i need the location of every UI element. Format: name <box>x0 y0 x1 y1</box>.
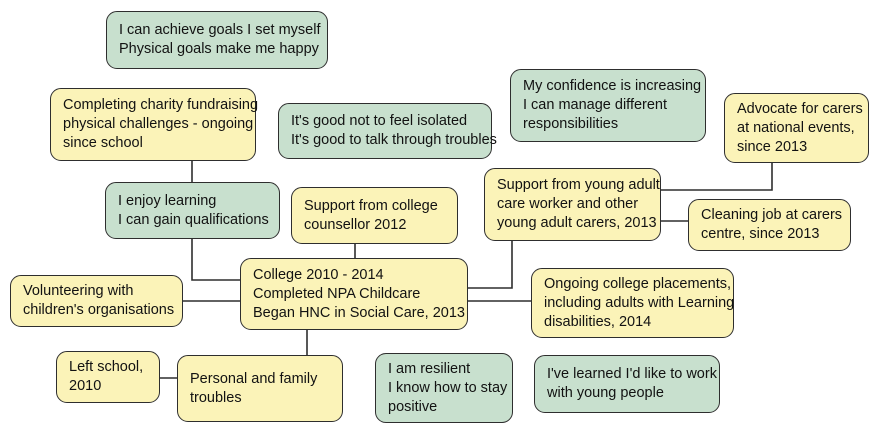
node-advocate-carers[interactable]: Advocate for carersat national events,si… <box>724 93 869 163</box>
node-text-line: I am resilient <box>388 360 500 379</box>
node-text-line: troubles <box>190 389 330 408</box>
node-text-line: care worker and other <box>497 195 648 214</box>
node-text-line: Ongoing college placements, <box>544 275 721 294</box>
node-college-main[interactable]: College 2010 - 2014Completed NPA Childca… <box>240 258 468 330</box>
node-text-line: Physical goals make me happy <box>119 40 315 59</box>
node-text-line: It's good to talk through troubles <box>291 131 479 150</box>
connector-enjoy-to-college <box>192 239 240 280</box>
node-enjoy-learning[interactable]: I enjoy learningI can gain qualification… <box>105 182 280 239</box>
node-text-line: children's organisations <box>23 301 170 320</box>
node-text-line: Cleaning job at carers <box>701 206 838 225</box>
node-text-line: I've learned I'd like to work <box>547 365 707 384</box>
node-confidence-increasing[interactable]: My confidence is increasingI can manage … <box>510 69 706 142</box>
node-text-line: Volunteering with <box>23 282 170 301</box>
node-text-line: since 2013 <box>737 138 856 157</box>
node-text-line: at national events, <box>737 119 856 138</box>
node-charity-fundraising[interactable]: Completing charity fundraisingphysical c… <box>50 88 256 161</box>
node-text-line: centre, since 2013 <box>701 225 838 244</box>
connector-youngadult-to-college <box>468 241 512 288</box>
node-left-school[interactable]: Left school,2010 <box>56 351 160 403</box>
node-young-adult-support[interactable]: Support from young adultcare worker and … <box>484 168 661 241</box>
node-resilient[interactable]: I am resilientI know how to staypositive <box>375 353 513 423</box>
connector-advocate-to-youngadult <box>661 163 772 190</box>
node-text-line: I enjoy learning <box>118 192 267 211</box>
node-text-line: Left school, <box>69 358 147 377</box>
node-text-line: I can gain qualifications <box>118 211 267 230</box>
node-work-young-people[interactable]: I've learned I'd like to workwith young … <box>534 355 720 413</box>
node-text-line: since school <box>63 134 243 153</box>
node-text-line: young adult carers, 2013 <box>497 214 648 233</box>
node-text-line: counsellor 2012 <box>304 216 445 235</box>
node-volunteering[interactable]: Volunteering withchildren's organisation… <box>10 275 183 327</box>
node-text-line: Began HNC in Social Care, 2013 <box>253 304 455 323</box>
node-text-line: Support from college <box>304 197 445 216</box>
node-text-line: positive <box>388 398 500 417</box>
node-text-line: College 2010 - 2014 <box>253 266 455 285</box>
node-text-line: Support from young adult <box>497 176 648 195</box>
node-text-line: physical challenges - ongoing <box>63 115 243 134</box>
node-text-line: Advocate for carers <box>737 100 856 119</box>
diagram-canvas: I can achieve goals I set myselfPhysical… <box>0 0 880 436</box>
node-text-line: 2010 <box>69 377 147 396</box>
node-text-line: It's good not to feel isolated <box>291 112 479 131</box>
node-text-line: responsibilities <box>523 115 693 134</box>
node-text-line: I can achieve goals I set myself <box>119 21 315 40</box>
node-text-line: with young people <box>547 384 707 403</box>
node-personal-troubles[interactable]: Personal and familytroubles <box>177 355 343 422</box>
node-text-line: My confidence is increasing <box>523 77 693 96</box>
node-text-line: I know how to stay <box>388 379 500 398</box>
node-achieve-goals[interactable]: I can achieve goals I set myselfPhysical… <box>106 11 328 69</box>
node-text-line: I can manage different <box>523 96 693 115</box>
node-ongoing-placements[interactable]: Ongoing college placements,including adu… <box>531 268 734 338</box>
node-not-isolated[interactable]: It's good not to feel isolatedIt's good … <box>278 103 492 159</box>
node-text-line: including adults with Learning <box>544 294 721 313</box>
node-text-line: Completing charity fundraising <box>63 96 243 115</box>
node-text-line: Completed NPA Childcare <box>253 285 455 304</box>
node-text-line: disabilities, 2014 <box>544 313 721 332</box>
node-text-line: Personal and family <box>190 370 330 389</box>
node-cleaning-job[interactable]: Cleaning job at carerscentre, since 2013 <box>688 199 851 251</box>
node-college-counsellor[interactable]: Support from collegecounsellor 2012 <box>291 187 458 244</box>
